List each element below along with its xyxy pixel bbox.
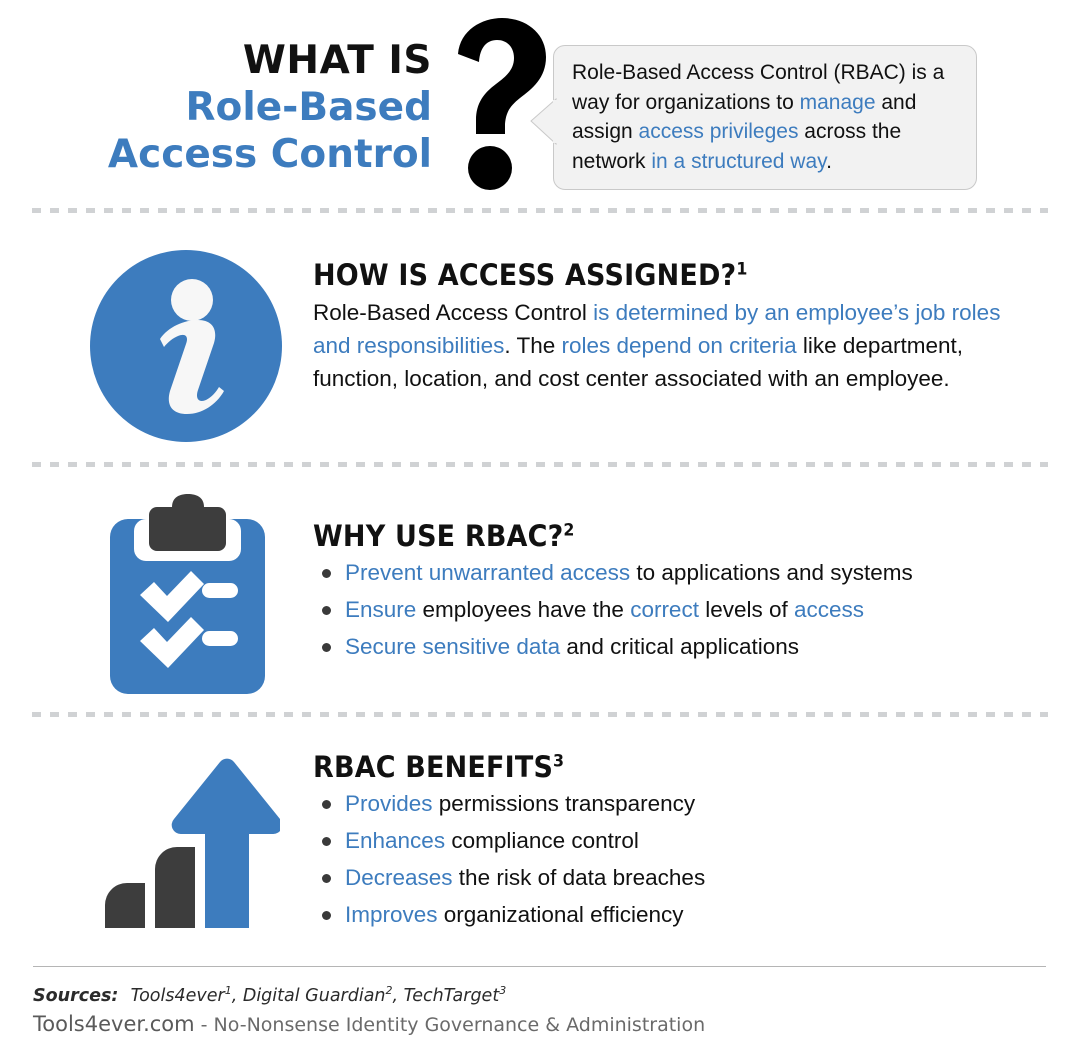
header-section: WHAT IS Role-Based Access Control Role-B… [0,0,1080,210]
list-item: Improves organizational efficiency [313,902,1013,928]
sources-label: Sources: [33,986,131,1006]
section-why-use-rbac: WHY USE RBAC?2 Prevent unwarranted acces… [0,485,1080,700]
tagline-separator: - [195,1014,214,1036]
section-1-body-segment-2: . The [504,333,561,358]
section-2-bullet-1-segment-2: correct [630,597,699,622]
section-3-bullet-2-segment-0: Decreases [345,865,453,890]
section-2-bullet-0-segment-0: Prevent unwarranted access [345,560,630,585]
definition-text-segment-6: . [826,150,832,173]
section-1-body-segment-0: Role-Based Access Control [313,300,593,325]
section-3-bullet-list: Provides permissions transparencyEnhance… [313,791,1013,928]
section-3-bullet-3-segment-1: organizational efficiency [438,902,684,927]
section-2-bullet-1-segment-1: employees have the [416,597,630,622]
section-how-is-access-assigned: HOW IS ACCESS ASSIGNED?1 Role-Based Acce… [0,240,1080,455]
section-2-bullet-0-segment-1: to applications and systems [630,560,913,585]
section-2-content: WHY USE RBAC?2 Prevent unwarranted acces… [313,519,1013,671]
divider-1 [32,208,1048,213]
section-1-heading-text: HOW IS ACCESS ASSIGNED? [313,258,736,292]
section-1-heading-superscript: 1 [736,259,747,279]
source-2: TechTarget3 [404,986,507,1006]
definition-text: Role-Based Access Control (RBAC) is a wa… [572,58,964,176]
section-2-bullet-2-segment-1: and critical applications [560,634,799,659]
section-3-heading-text: RBAC BENEFITS [313,750,553,784]
infographic-page: WHAT IS Role-Based Access Control Role-B… [0,0,1080,1061]
section-3-bullet-0-segment-1: permissions transparency [433,791,696,816]
section-2-heading-text: WHY USE RBAC? [313,519,563,553]
list-item: Decreases the risk of data breaches [313,865,1013,891]
section-rbac-benefits: RBAC BENEFITS3 Provides permissions tran… [0,745,1080,955]
section-3-bullet-1-segment-0: Enhances [345,828,445,853]
section-3-bullet-2-segment-1: the risk of data breaches [453,865,706,890]
title-line-what-is: WHAT IS [40,38,432,84]
divider-2 [32,462,1048,467]
clipboard-checklist-icon [110,494,265,694]
source-1: Digital Guardian2, [243,986,404,1006]
list-item: Secure sensitive data and critical appli… [313,634,1013,660]
source-2-superscript: 3 [499,984,506,997]
list-item: Provides permissions transparency [313,791,1013,817]
info-circle-icon [88,248,284,444]
list-item: Enhances compliance control [313,828,1013,854]
source-0-superscript: 1 [225,984,232,997]
definition-text-segment-5: in a structured way [651,150,826,173]
tagline-text: No-Nonsense Identity Governance & Admini… [214,1014,706,1036]
section-3-heading-superscript: 3 [553,751,564,771]
page-title: WHAT IS Role-Based Access Control [40,38,432,178]
definition-speech-bubble: Role-Based Access Control (RBAC) is a wa… [553,45,977,190]
list-item: Ensure employees have the correct levels… [313,597,1013,623]
title-line-role-based: Role-Based [40,84,432,131]
section-1-heading: HOW IS ACCESS ASSIGNED?1 [313,258,964,293]
source-0: Tools4ever1, [131,986,243,1006]
section-2-bullet-1-segment-4: access [794,597,864,622]
brand-name: Tools4ever.com [33,1012,195,1036]
section-2-heading-superscript: 2 [563,520,574,540]
section-3-content: RBAC BENEFITS3 Provides permissions tran… [313,750,1013,939]
section-2-bullet-list: Prevent unwarranted access to applicatio… [313,560,1013,660]
section-1-content: HOW IS ACCESS ASSIGNED?1 Role-Based Acce… [313,258,1013,395]
section-2-bullet-1-segment-0: Ensure [345,597,416,622]
section-3-bullet-0-segment-0: Provides [345,791,433,816]
title-line-access-control: Access Control [40,131,432,178]
speech-bubble-tail [529,98,555,144]
section-2-bullet-1-segment-3: levels of [699,597,794,622]
section-1-body-segment-3: roles depend on criteria [562,333,797,358]
sources-line: Sources: Tools4ever1, Digital Guardian2,… [33,986,506,1006]
source-1-superscript: 2 [386,984,393,997]
definition-text-segment-1: manage [800,91,876,114]
section-2-bullet-2-segment-0: Secure sensitive data [345,634,560,659]
section-2-heading: WHY USE RBAC?2 [313,519,964,554]
section-3-bullet-3-segment-0: Improves [345,902,438,927]
section-3-bullet-1-segment-1: compliance control [445,828,639,853]
footer-divider [33,966,1046,967]
tagline-line: Tools4ever.com - No-Nonsense Identity Go… [33,1012,705,1036]
growth-chart-arrow-icon [100,753,280,928]
section-3-heading: RBAC BENEFITS3 [313,750,964,785]
definition-text-segment-3: access privileges [639,120,799,143]
list-item: Prevent unwarranted access to applicatio… [313,560,1013,586]
section-1-body: Role-Based Access Control is determined … [313,296,1013,395]
divider-3 [32,712,1048,717]
